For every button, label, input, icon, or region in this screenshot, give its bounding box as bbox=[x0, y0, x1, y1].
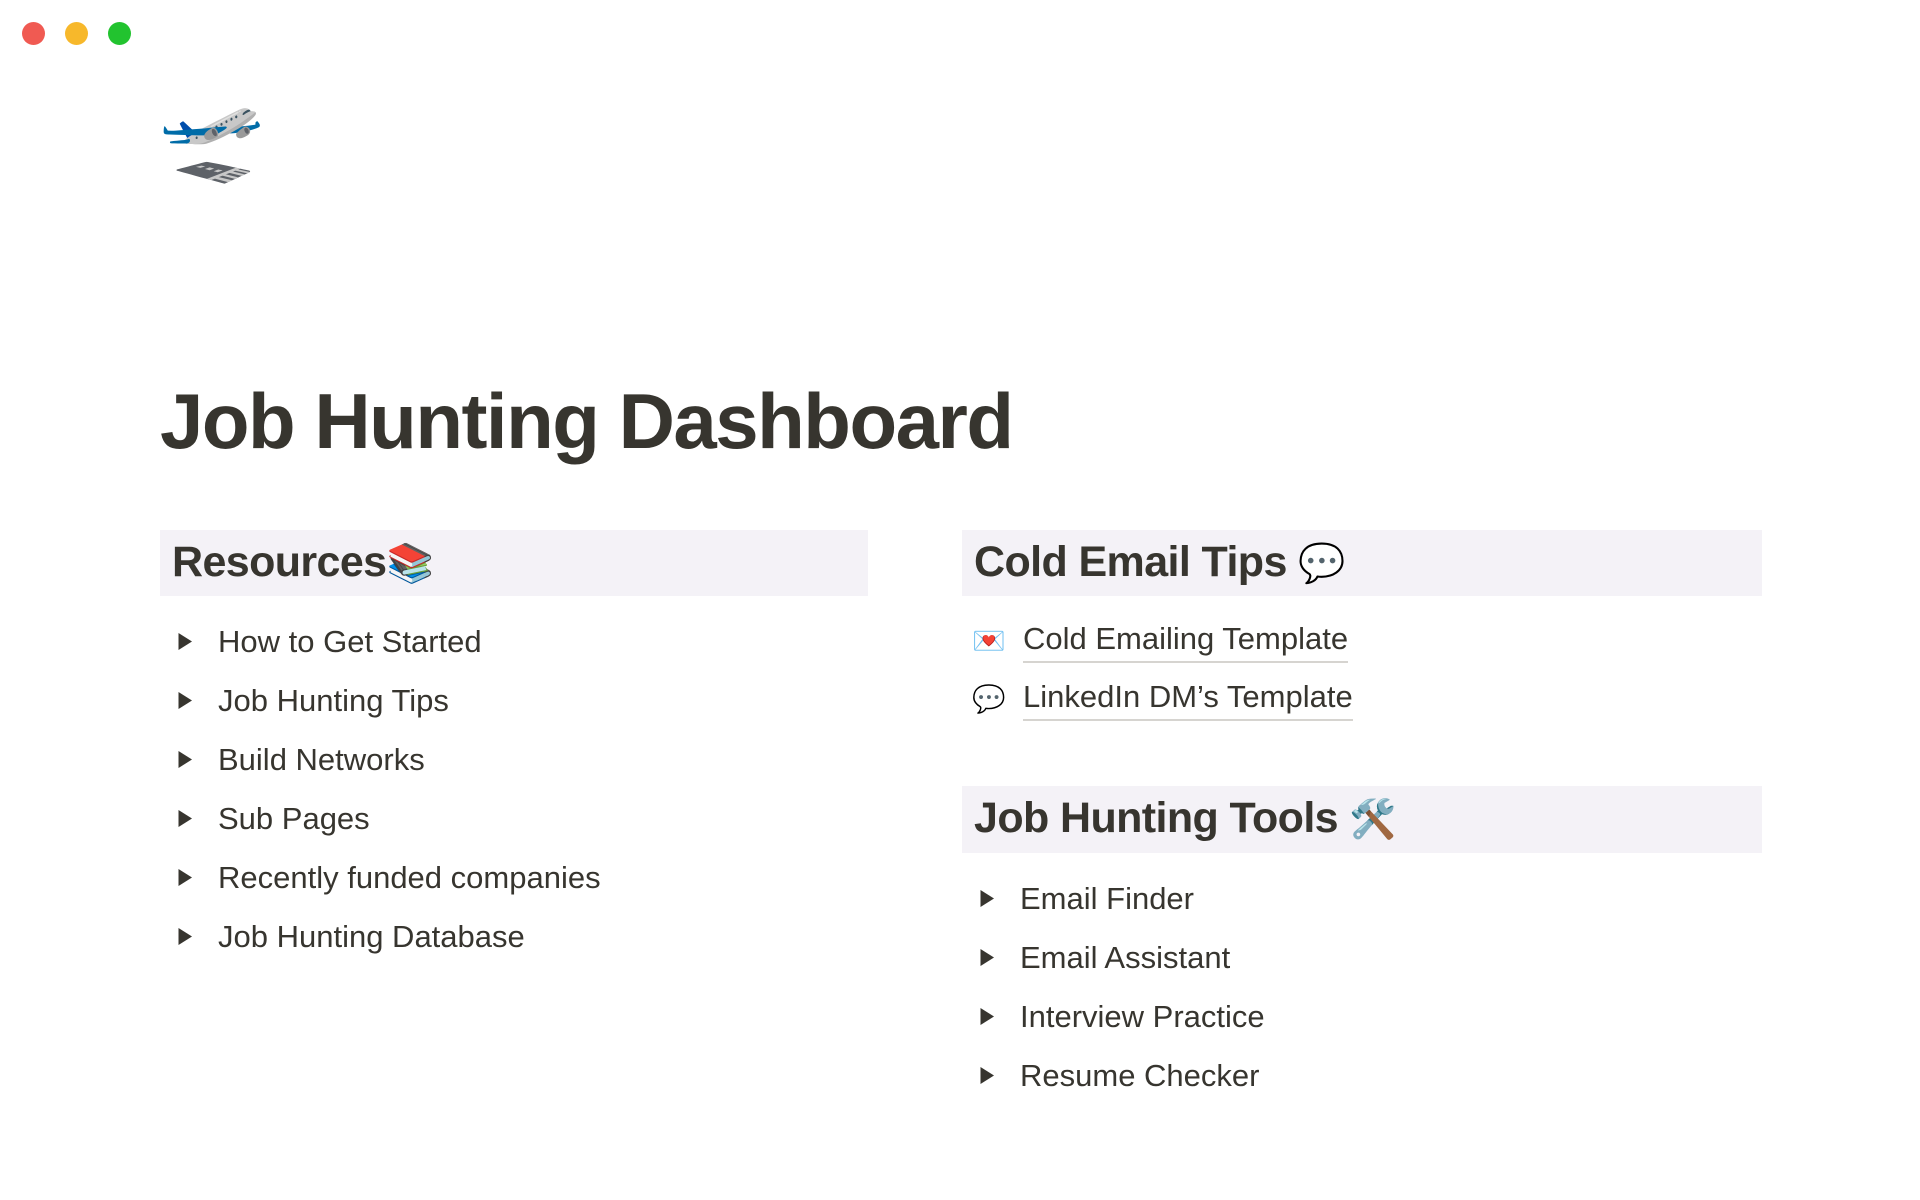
section-heading-text: Job Hunting Tools bbox=[974, 794, 1349, 842]
toggle-triangle-icon[interactable] bbox=[172, 632, 198, 651]
toggle-item-label: Interview Practice bbox=[1020, 998, 1265, 1035]
toggle-item[interactable]: How to Get Started bbox=[160, 612, 868, 671]
close-window-button[interactable] bbox=[22, 22, 45, 45]
toggle-item-label: Resume Checker bbox=[1020, 1057, 1259, 1094]
toggle-triangle-icon[interactable] bbox=[974, 889, 1000, 908]
speech-balloon-emoji: 💬 bbox=[972, 686, 1004, 713]
toggle-triangle-icon[interactable] bbox=[172, 809, 198, 828]
toggle-item-label: Email Assistant bbox=[1020, 939, 1230, 976]
toggle-item-label: Job Hunting Database bbox=[218, 918, 525, 955]
link-item-label[interactable]: LinkedIn DM’s Template bbox=[1023, 678, 1353, 722]
toggle-item-label: Recently funded companies bbox=[218, 859, 601, 896]
link-item[interactable]: 💬LinkedIn DM’s Template bbox=[962, 670, 1762, 728]
toggle-item-label: Sub Pages bbox=[218, 800, 370, 837]
left-column: Resources📚How to Get StartedJob Hunting … bbox=[160, 530, 868, 966]
toggle-triangle-icon[interactable] bbox=[974, 948, 1000, 967]
toggle-item-label: How to Get Started bbox=[218, 623, 482, 660]
toggle-item-label: Job Hunting Tips bbox=[218, 682, 449, 719]
link-item-label[interactable]: Cold Emailing Template bbox=[1023, 620, 1348, 664]
window-title-bar bbox=[0, 0, 1920, 74]
section-heading-text: Cold Email Tips bbox=[974, 538, 1298, 586]
toggle-item[interactable]: Job Hunting Tips bbox=[160, 671, 868, 730]
toggle-triangle-icon[interactable] bbox=[172, 868, 198, 887]
love-letter-emoji: 💌 bbox=[972, 628, 1004, 655]
hammer-and-wrench-emoji: 🛠️ bbox=[1349, 797, 1396, 841]
traffic-lights bbox=[22, 22, 131, 45]
section-job_hunting_tools: Job Hunting Tools 🛠️Email FinderEmail As… bbox=[962, 786, 1762, 1104]
toggle-item[interactable]: Resume Checker bbox=[962, 1046, 1762, 1105]
toggle-triangle-icon[interactable] bbox=[974, 1007, 1000, 1026]
section-body-job_hunting_tools: Email FinderEmail AssistantInterview Pra… bbox=[962, 853, 1762, 1105]
section-heading-cold_email_tips: Cold Email Tips 💬 bbox=[962, 530, 1762, 596]
section-body-resources: How to Get StartedJob Hunting TipsBuild … bbox=[160, 596, 868, 966]
toggle-item[interactable]: Sub Pages bbox=[160, 789, 868, 848]
page-title: Job Hunting Dashboard bbox=[160, 382, 1012, 460]
toggle-triangle-icon[interactable] bbox=[172, 750, 198, 769]
section-heading-text: Resources bbox=[172, 538, 387, 586]
toggle-triangle-icon[interactable] bbox=[172, 691, 198, 710]
maximize-window-button[interactable] bbox=[108, 22, 131, 45]
right-column: Cold Email Tips 💬💌Cold Emailing Template… bbox=[962, 530, 1762, 1105]
minimize-window-button[interactable] bbox=[65, 22, 88, 45]
section-cold_email_tips: Cold Email Tips 💬💌Cold Emailing Template… bbox=[962, 530, 1762, 728]
toggle-item[interactable]: Email Assistant bbox=[962, 928, 1762, 987]
toggle-item[interactable]: Build Networks bbox=[160, 730, 868, 789]
section-heading-resources: Resources📚 bbox=[160, 530, 868, 596]
section-body-cold_email_tips: 💌Cold Emailing Template💬LinkedIn DM’s Te… bbox=[962, 596, 1762, 728]
section-heading-job_hunting_tools: Job Hunting Tools 🛠️ bbox=[962, 786, 1762, 852]
section-resources: Resources📚How to Get StartedJob Hunting … bbox=[160, 530, 868, 966]
page-content: 🛫 Job Hunting Dashboard Resources📚How to… bbox=[0, 74, 1920, 1200]
toggle-item-label: Build Networks bbox=[218, 741, 425, 778]
speech-balloon-emoji: 💬 bbox=[1298, 541, 1345, 585]
toggle-item[interactable]: Interview Practice bbox=[962, 987, 1762, 1046]
link-item[interactable]: 💌Cold Emailing Template bbox=[962, 612, 1762, 670]
books-emoji: 📚 bbox=[387, 541, 434, 585]
toggle-item[interactable]: Email Finder bbox=[962, 869, 1762, 928]
airplane-departure-icon[interactable]: 🛫 bbox=[158, 94, 265, 180]
toggle-triangle-icon[interactable] bbox=[172, 927, 198, 946]
toggle-triangle-icon[interactable] bbox=[974, 1066, 1000, 1085]
toggle-item[interactable]: Recently funded companies bbox=[160, 848, 868, 907]
toggle-item[interactable]: Job Hunting Database bbox=[160, 907, 868, 966]
toggle-item-label: Email Finder bbox=[1020, 880, 1194, 917]
